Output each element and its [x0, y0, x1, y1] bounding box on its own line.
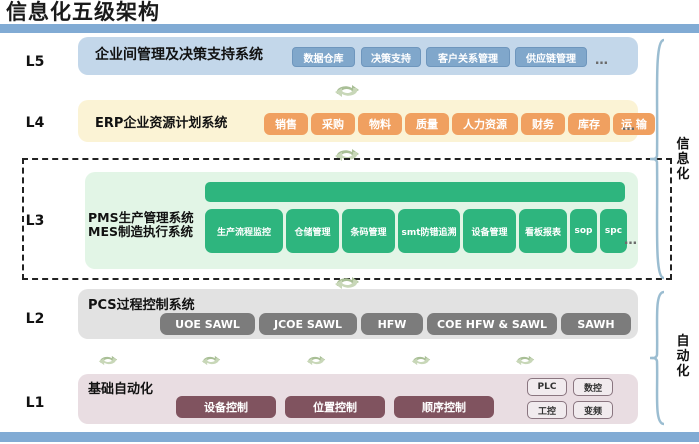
level-title-l1: 基础自动化	[88, 378, 153, 397]
recycle-icon-l2-l1-4	[408, 352, 434, 369]
chip-l4-materials[interactable]: 物料	[358, 113, 402, 135]
bottom-accent-bar	[0, 432, 699, 442]
chip-l3-sop[interactable]: sop	[570, 209, 597, 253]
level-label-l1: L1	[14, 395, 56, 411]
brace-informatization	[648, 38, 672, 280]
chip-l5-decision-support[interactable]: 决策支持	[361, 47, 421, 67]
level-title-l3-line2: MES制造执行系统	[88, 225, 194, 239]
chip-l2-jcoe-sawl[interactable]: JCOE SAWL	[259, 313, 357, 335]
chip-l4-finance[interactable]: 财务	[521, 113, 565, 135]
level-label-l4: L4	[14, 115, 56, 131]
chip-l3-kanban-reports[interactable]: 看板报表	[519, 209, 567, 253]
chip-l1-position-control[interactable]: 位置控制	[285, 396, 385, 418]
recycle-icon-l2-l1-5	[512, 352, 538, 369]
level-label-l5: L5	[14, 54, 56, 70]
recycle-icon-l5-l4	[330, 80, 364, 102]
chip-l2-hfw[interactable]: HFW	[361, 313, 423, 335]
chip-l4-purchasing[interactable]: 采购	[311, 113, 355, 135]
chip-l3-barcode-management[interactable]: 条码管理	[342, 209, 395, 253]
level-title-l4: ERP企业资源计划系统	[95, 112, 227, 131]
level-title-l5: 企业间管理及决策支持系统	[95, 44, 263, 64]
title-underline-bar	[0, 24, 699, 33]
recycle-icon-l2-l1-2	[198, 352, 224, 369]
level-title-l3-line1: PMS生产管理系统	[88, 211, 194, 225]
chip-l4-sales[interactable]: 销售	[264, 113, 308, 135]
recycle-icon-l2-l1-1	[95, 352, 121, 369]
page-title: 信息化五级架构	[6, 0, 160, 24]
level-title-l2: PCS过程控制系统	[88, 294, 195, 313]
level-label-l2: L2	[14, 311, 56, 327]
level-label-l3: L3	[14, 213, 56, 229]
brace-automation	[648, 290, 672, 426]
brace-label-automation: 自动化	[676, 334, 690, 379]
chip-l5-scm[interactable]: 供应链管理	[515, 47, 587, 67]
chip-l1-aux-industrial-control[interactable]: 工控	[527, 401, 567, 419]
chip-l2-coe-hfw-sawl[interactable]: COE HFW & SAWL	[427, 313, 557, 335]
chip-l2-sawh[interactable]: SAWH	[561, 313, 631, 335]
level-title-l3: PMS生产管理系统 MES制造执行系统	[88, 211, 194, 239]
chip-l5-crm[interactable]: 客户关系管理	[426, 47, 510, 67]
chip-l3-smt-error-proofing-traceability[interactable]: smt防错追溯	[398, 209, 460, 253]
chip-l3-equipment-management[interactable]: 设备管理	[463, 209, 516, 253]
chip-l5-data-warehouse[interactable]: 数据仓库	[292, 47, 355, 67]
chip-l2-uoe-sawl[interactable]: UOE SAWL	[160, 313, 255, 335]
chip-l1-aux-plc[interactable]: PLC	[527, 378, 567, 396]
recycle-icon-l3-l2	[330, 272, 364, 294]
chip-l4-inventory[interactable]: 库存	[568, 113, 610, 135]
chip-l4-human-resources[interactable]: 人力资源	[452, 113, 518, 135]
level-band-l3-header-bar	[205, 182, 625, 202]
chip-l4-quality[interactable]: 质量	[405, 113, 449, 135]
chip-l1-aux-inverter[interactable]: 变频	[573, 401, 613, 419]
chip-l3-spc[interactable]: spc	[600, 209, 627, 253]
chip-l3-warehouse-management[interactable]: 仓储管理	[286, 209, 339, 253]
chip-l1-sequence-control[interactable]: 顺序控制	[394, 396, 494, 418]
chip-l3-production-process-monitoring[interactable]: 生产流程监控	[205, 209, 283, 253]
chip-l3-more-ellipsis: …	[624, 233, 638, 248]
brace-label-informatization: 信息化	[676, 137, 690, 182]
chip-l4-more-ellipsis: …	[622, 119, 636, 134]
chip-l1-aux-cnc[interactable]: 数控	[573, 378, 613, 396]
recycle-icon-l2-l1-3	[303, 352, 329, 369]
chip-l1-equipment-control[interactable]: 设备控制	[176, 396, 276, 418]
chip-l5-more-ellipsis: …	[595, 53, 609, 68]
